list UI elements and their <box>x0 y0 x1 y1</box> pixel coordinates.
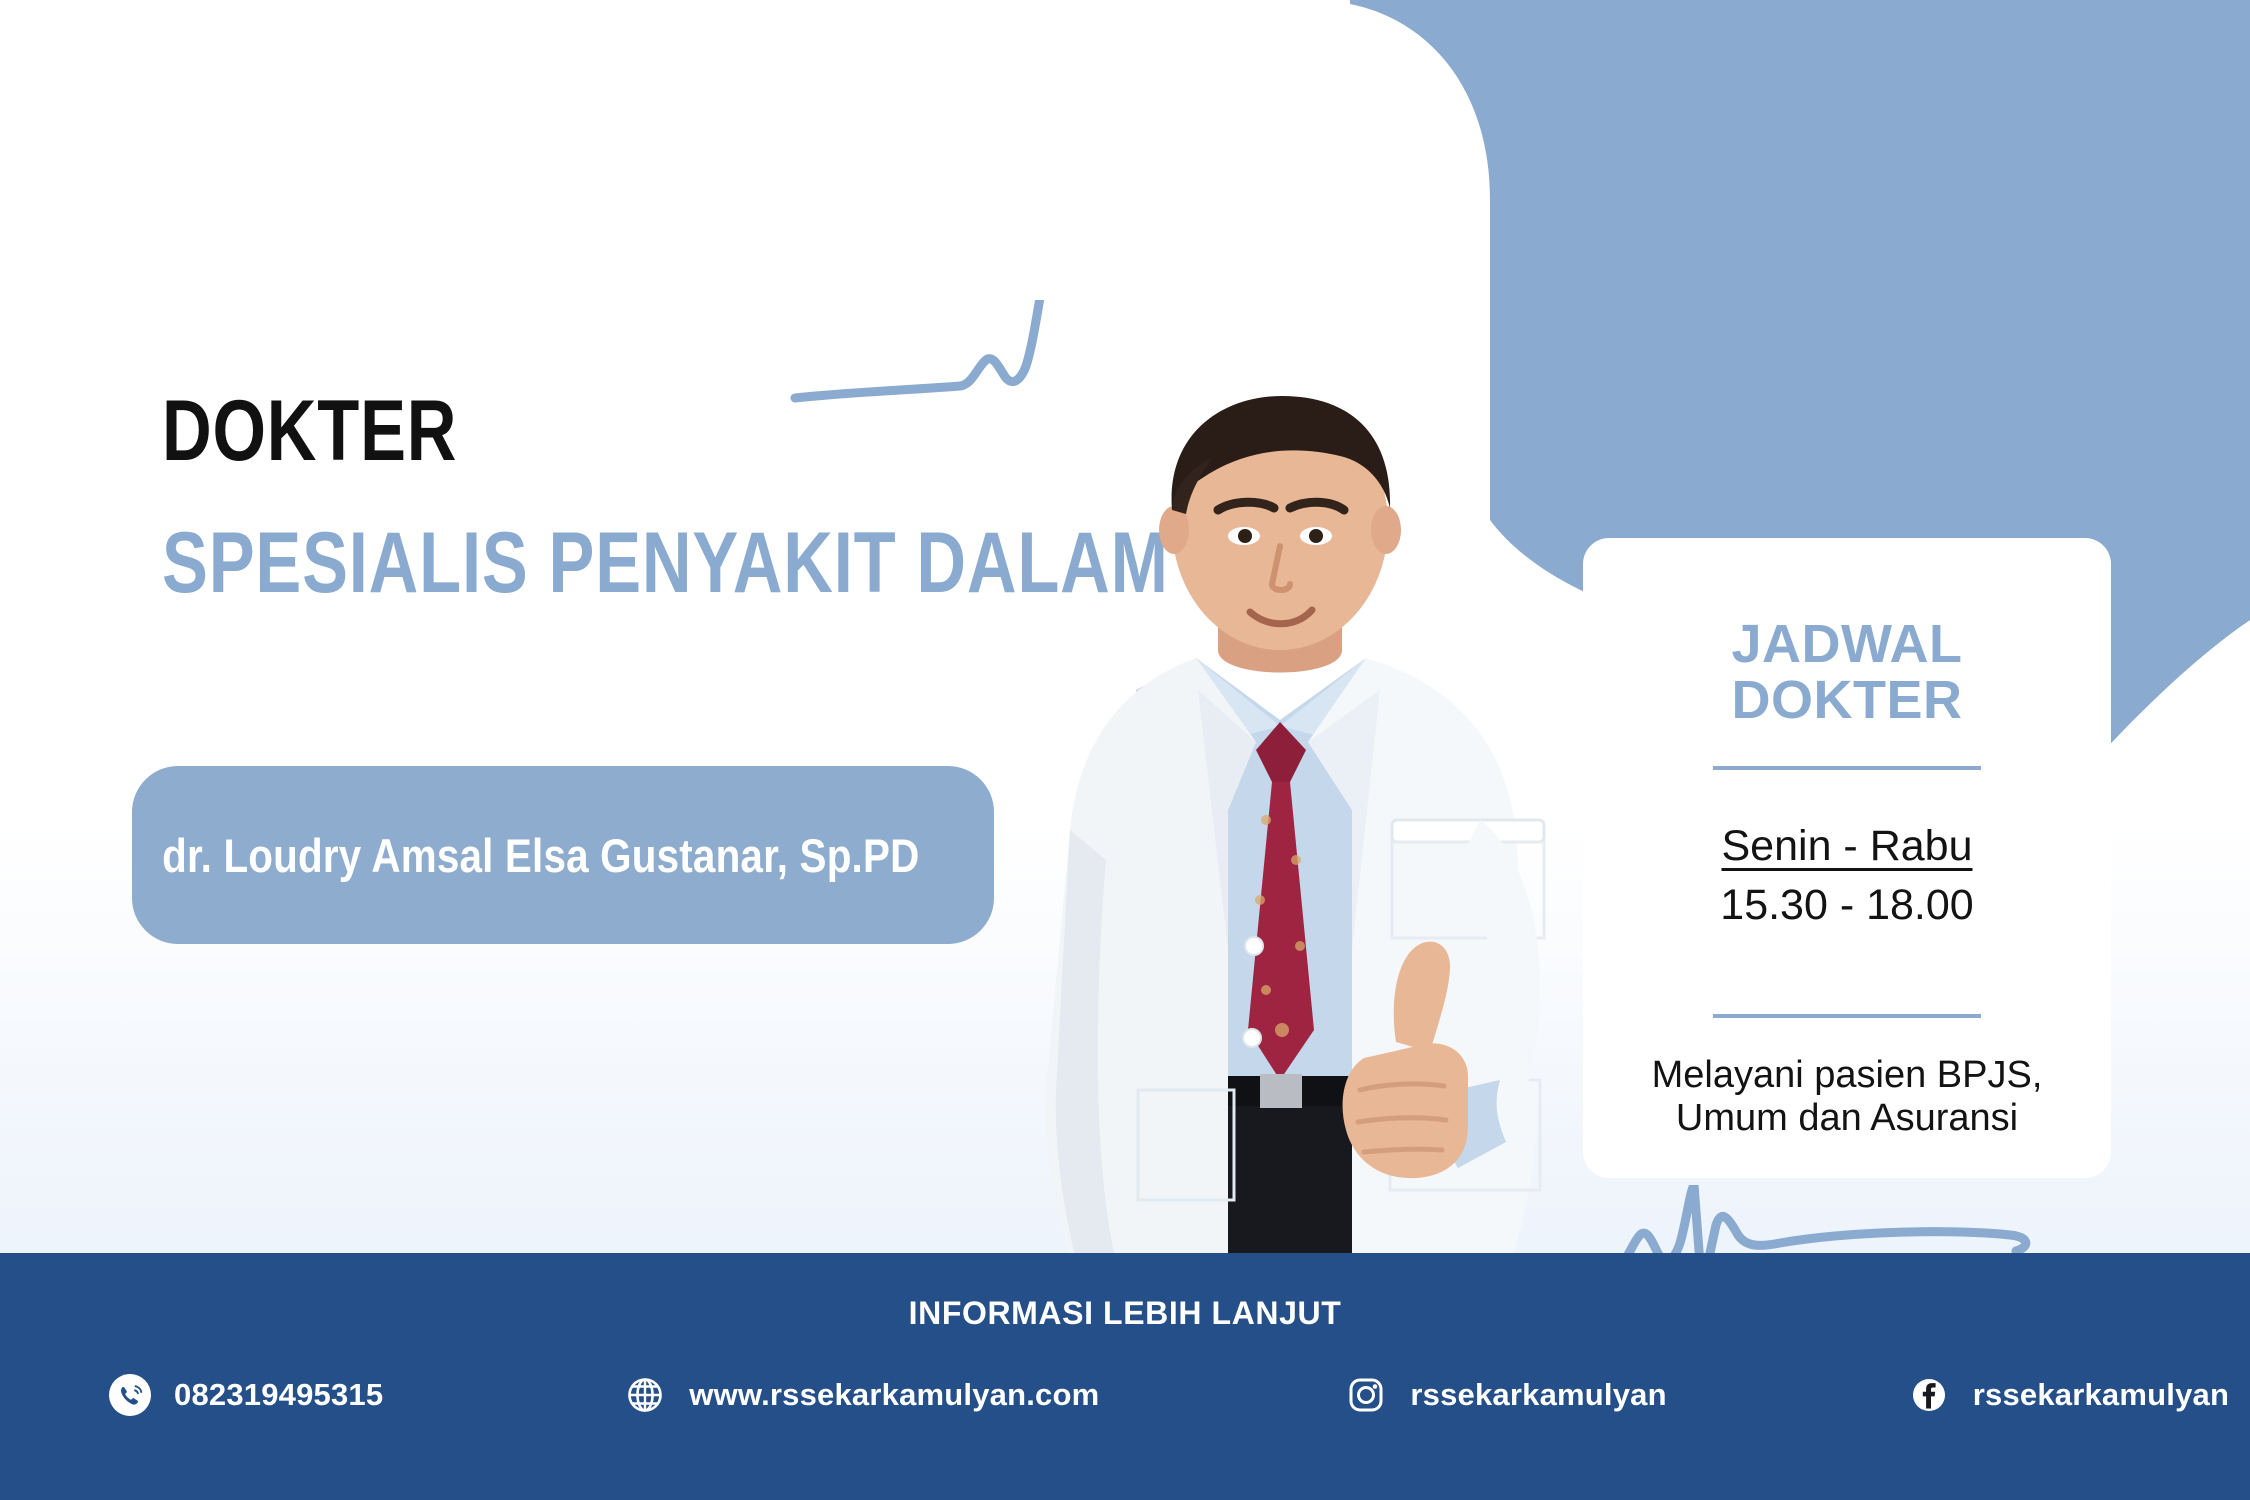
contact-website[interactable]: www.rssekarkamulyan.com <box>623 1373 1099 1417</box>
phone-label: 082319495315 <box>174 1377 383 1413</box>
instagram-label: rssekarkamulyan <box>1410 1377 1666 1413</box>
website-label: www.rssekarkamulyan.com <box>689 1377 1099 1413</box>
schedule-days: Senin - Rabu <box>1722 822 1973 871</box>
poster-canvas: DOKTER SPESIALIS PENYAKIT DALAM dr. Loud… <box>0 0 2250 1500</box>
globe-icon <box>623 1373 667 1417</box>
divider-bottom <box>1713 1014 1981 1018</box>
doctor-photo <box>960 390 1600 1260</box>
contact-phone[interactable]: 082319495315 <box>108 1373 383 1417</box>
divider-top <box>1713 766 1981 770</box>
insurance-note: Melayani pasien BPJS, Umum dan Asuransi <box>1607 1054 2087 1139</box>
schedule-hours: 15.30 - 18.00 <box>1720 881 1973 930</box>
facebook-icon <box>1907 1373 1951 1417</box>
schedule-title-line2: DOKTER <box>1732 670 1963 730</box>
contact-facebook[interactable]: rssekarkamulyan <box>1907 1373 2229 1417</box>
instagram-icon <box>1344 1373 1388 1417</box>
schedule-title-line1: JADWAL <box>1732 614 1963 674</box>
footer-title: INFORMASI LEBIH LANJUT <box>0 1295 2250 1332</box>
doctor-name-label: dr. Loudry Amsal Elsa Gustanar, Sp.PD <box>132 828 919 883</box>
contact-instagram[interactable]: rssekarkamulyan <box>1344 1373 1666 1417</box>
doctor-name-pill: dr. Loudry Amsal Elsa Gustanar, Sp.PD <box>132 766 994 944</box>
facebook-label: rssekarkamulyan <box>1973 1377 2229 1413</box>
schedule-card-title: JADWAL DOKTER <box>1732 616 1963 728</box>
schedule-card: JADWAL DOKTER Senin - Rabu 15.30 - 18.00… <box>1583 538 2111 1178</box>
contact-list: 082319495315 www.rssekarkamulyan.com <box>0 1373 2250 1417</box>
phone-icon <box>108 1373 152 1417</box>
footer-bar: INFORMASI LEBIH LANJUT 082319495315 <box>0 1253 2250 1500</box>
